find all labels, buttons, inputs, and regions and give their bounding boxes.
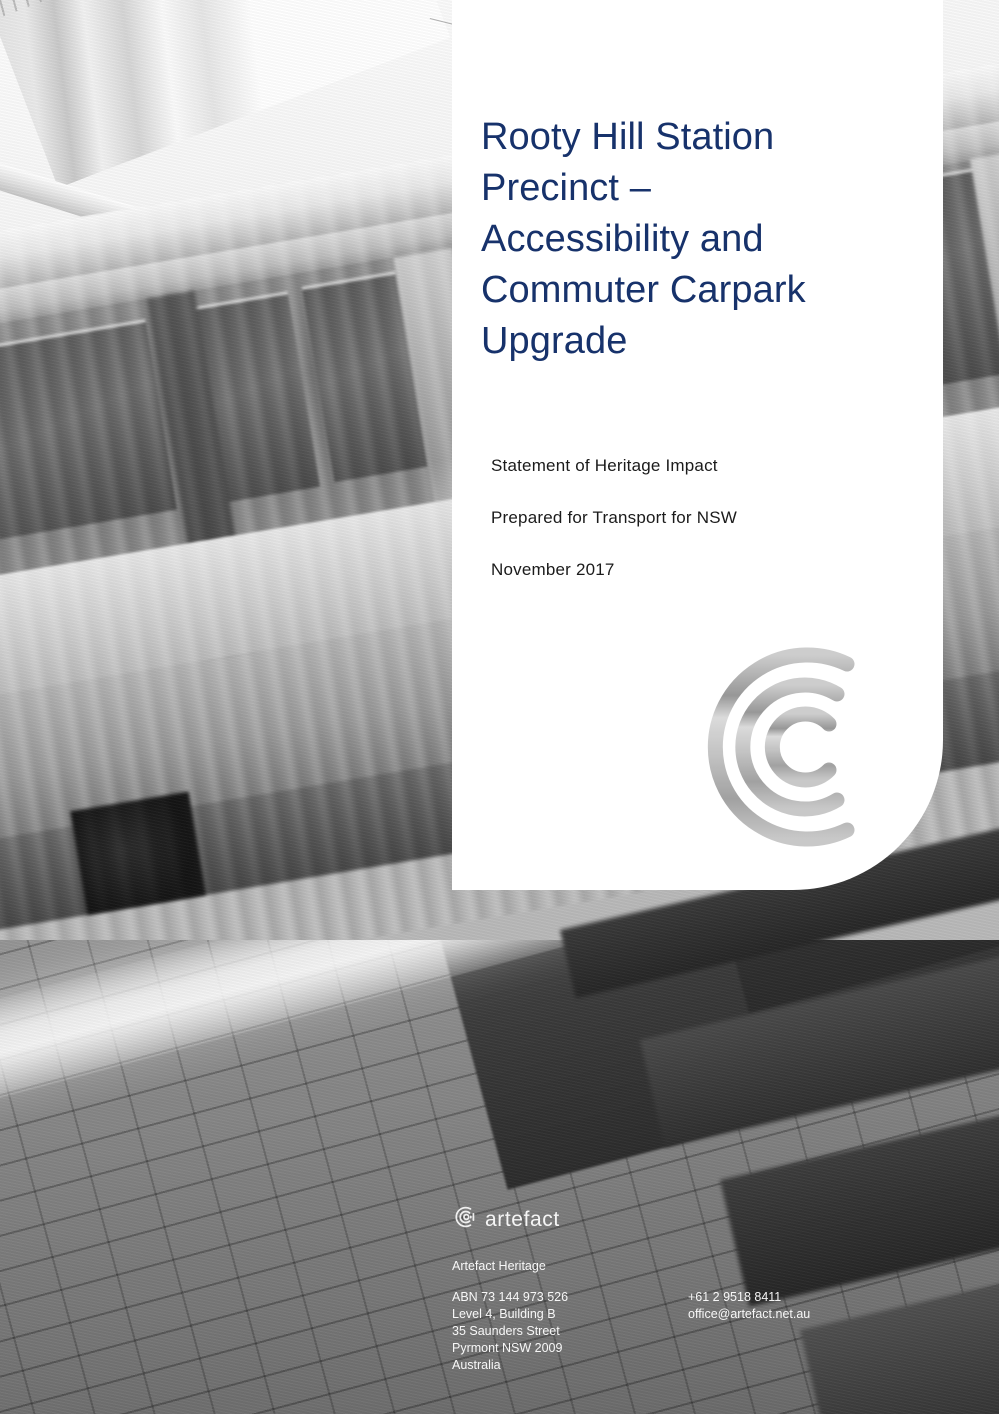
- footer-address-line: Pyrmont NSW 2009: [452, 1340, 636, 1357]
- title-line: Upgrade: [481, 316, 881, 367]
- footer-logo: artefact: [452, 1205, 872, 1234]
- footer-company-name: Artefact Heritage: [452, 1258, 636, 1275]
- title-line: Accessibility and: [481, 214, 881, 265]
- footer-wordmark: artefact: [485, 1208, 560, 1232]
- footer-abn: ABN 73 144 973 526: [452, 1289, 636, 1306]
- footer-address-line: Level 4, Building B: [452, 1306, 636, 1323]
- cover-content-panel: Rooty Hill Station Precinct – Accessibil…: [452, 0, 943, 890]
- footer-contact-block: artefact Artefact Heritage ABN 73 144 97…: [452, 1205, 872, 1374]
- document-date: November 2017: [491, 559, 911, 581]
- footer-address-column: Artefact Heritage ABN 73 144 973 526 Lev…: [452, 1258, 636, 1374]
- page-title: Rooty Hill Station Precinct – Accessibil…: [481, 112, 881, 367]
- title-line: Precinct –: [481, 163, 881, 214]
- footer-contact-column: +61 2 9518 8411 office@artefact.net.au: [688, 1258, 872, 1374]
- footer-country: Australia: [452, 1357, 636, 1374]
- footer-phone[interactable]: +61 2 9518 8411: [688, 1289, 872, 1306]
- title-line: Commuter Carpark: [481, 265, 881, 316]
- document-type: Statement of Heritage Impact: [491, 455, 911, 477]
- document-cover-page: Rooty Hill Station Precinct – Accessibil…: [0, 0, 999, 1414]
- subtitle-block: Statement of Heritage Impact Prepared fo…: [491, 455, 911, 581]
- footer-columns: Artefact Heritage ABN 73 144 973 526 Lev…: [452, 1258, 872, 1374]
- title-line: Rooty Hill Station: [481, 112, 881, 163]
- canopy-ribbing: [0, 0, 274, 20]
- artefact-mark-icon: [452, 1205, 476, 1234]
- artefact-logo-icon: [679, 642, 911, 852]
- footer-email[interactable]: office@artefact.net.au: [688, 1306, 872, 1323]
- footer-address-line: 35 Saunders Street: [452, 1323, 636, 1340]
- prepared-for: Prepared for Transport for NSW: [491, 507, 911, 529]
